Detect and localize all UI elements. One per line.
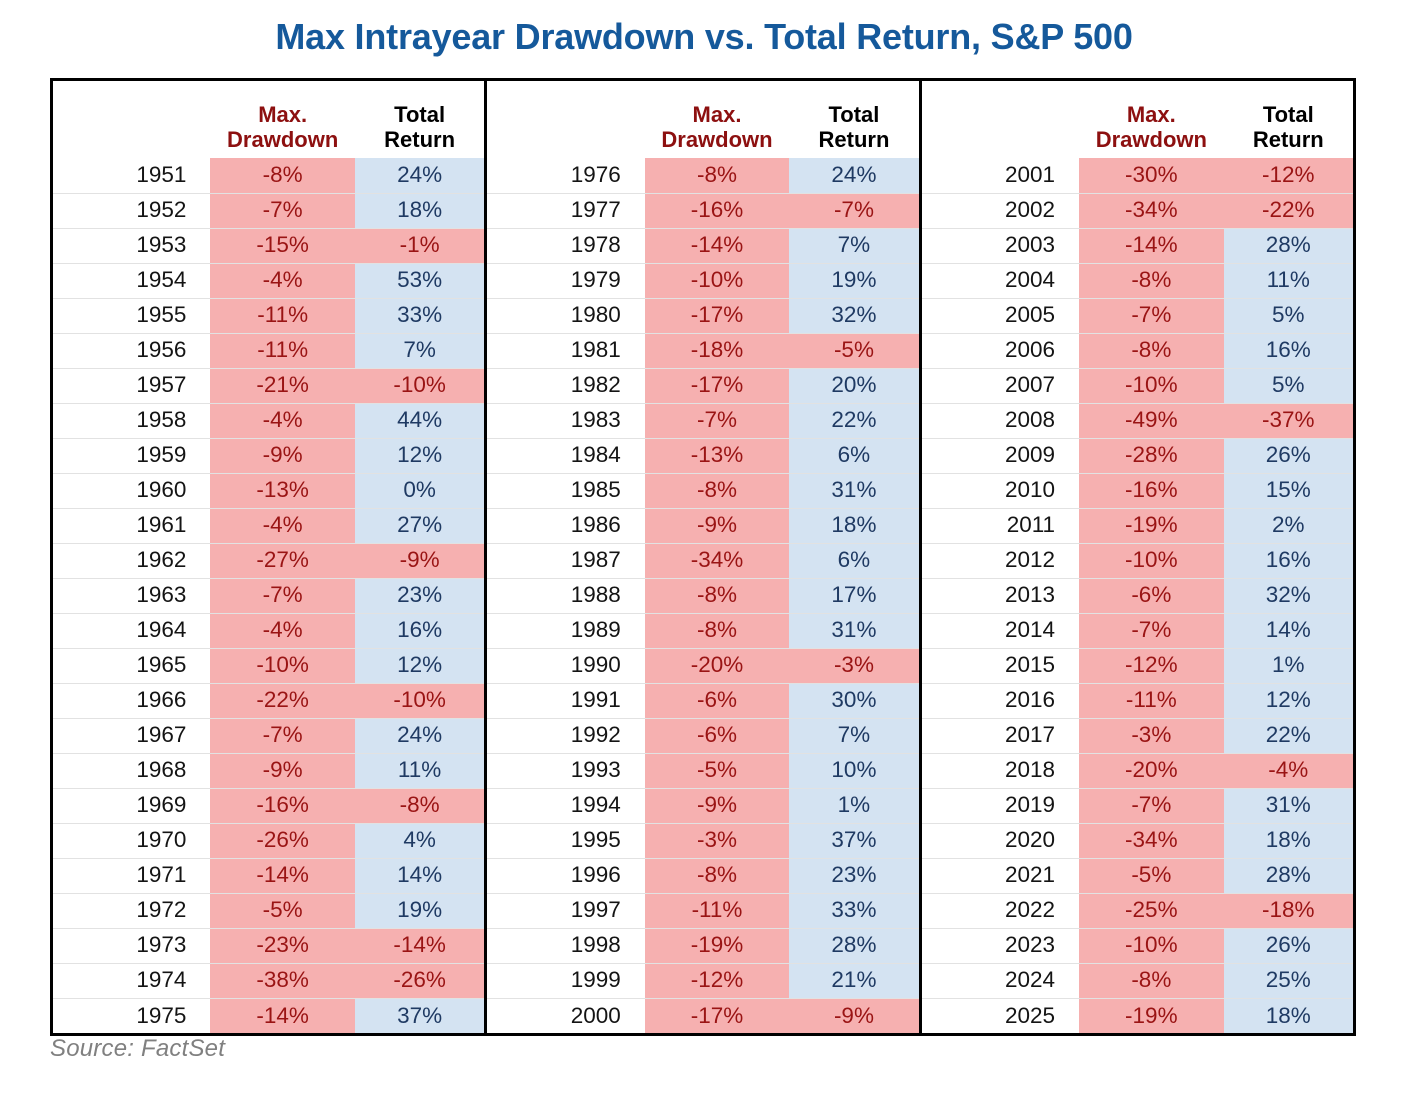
header-line-2: Return	[1230, 128, 1347, 153]
cell-year: 2015	[922, 648, 1079, 683]
cell-total-return: 1%	[1224, 648, 1353, 683]
table-row: 1977-16%-7%	[487, 193, 918, 228]
cell-year: 2012	[922, 543, 1079, 578]
cell-total-return: 7%	[789, 228, 918, 263]
cell-max-drawdown: -11%	[1079, 683, 1223, 718]
cell-max-drawdown: -16%	[645, 193, 789, 228]
cell-year: 2018	[922, 753, 1079, 788]
table-row: 2007-10%5%	[922, 368, 1353, 403]
cell-year: 1965	[53, 648, 210, 683]
table-row: 2009-28%26%	[922, 438, 1353, 473]
cell-total-return: 37%	[789, 823, 918, 858]
table-row: 1972-5%19%	[53, 893, 484, 928]
cell-year: 2021	[922, 858, 1079, 893]
cell-total-return: 31%	[789, 613, 918, 648]
cell-year: 1984	[487, 438, 644, 473]
cell-total-return: 18%	[789, 508, 918, 543]
cell-total-return: 23%	[355, 578, 484, 613]
cell-year: 1961	[53, 508, 210, 543]
cell-max-drawdown: -3%	[1079, 718, 1223, 753]
header-line-1: Total	[795, 103, 912, 128]
table-blocks: Max.DrawdownTotalReturn1951-8%24%1952-7%…	[53, 81, 1353, 1033]
table-row: 1980-17%32%	[487, 298, 918, 333]
cell-max-drawdown: -10%	[210, 648, 354, 683]
page-title: Max Intrayear Drawdown vs. Total Return,…	[0, 0, 1408, 55]
table-row: 1969-16%-8%	[53, 788, 484, 823]
cell-year: 1972	[53, 893, 210, 928]
cell-max-drawdown: -7%	[1079, 788, 1223, 823]
cell-year: 2016	[922, 683, 1079, 718]
header-line-2: Return	[795, 128, 912, 153]
cell-year: 2011	[922, 508, 1079, 543]
table-row: 2003-14%28%	[922, 228, 1353, 263]
table-row: 1951-8%24%	[53, 158, 484, 193]
cell-year: 1979	[487, 263, 644, 298]
cell-total-return: 24%	[789, 158, 918, 193]
cell-year: 1967	[53, 718, 210, 753]
table-header-row: Max.DrawdownTotalReturn	[53, 81, 484, 158]
cell-total-return: 33%	[355, 298, 484, 333]
table-row: 2017-3%22%	[922, 718, 1353, 753]
cell-max-drawdown: -17%	[645, 368, 789, 403]
cell-total-return: 30%	[789, 683, 918, 718]
cell-total-return: 53%	[355, 263, 484, 298]
cell-max-drawdown: -13%	[210, 473, 354, 508]
cell-max-drawdown: -14%	[210, 858, 354, 893]
table-row: 1995-3%37%	[487, 823, 918, 858]
cell-total-return: 11%	[1224, 263, 1353, 298]
cell-year: 2005	[922, 298, 1079, 333]
cell-total-return: 31%	[1224, 788, 1353, 823]
cell-year: 2025	[922, 998, 1079, 1033]
cell-year: 1993	[487, 753, 644, 788]
cell-year: 1991	[487, 683, 644, 718]
cell-max-drawdown: -6%	[1079, 578, 1223, 613]
cell-max-drawdown: -6%	[645, 718, 789, 753]
table-block-2: Max.DrawdownTotalReturn1976-8%24%1977-16…	[484, 81, 918, 1033]
table-block-3: Max.DrawdownTotalReturn2001-30%-12%2002-…	[919, 81, 1353, 1033]
table-row: 1968-9%11%	[53, 753, 484, 788]
cell-max-drawdown: -7%	[210, 193, 354, 228]
cell-max-drawdown: -8%	[645, 858, 789, 893]
cell-total-return: -22%	[1224, 193, 1353, 228]
drawdown-return-table: Max.DrawdownTotalReturn1951-8%24%1952-7%…	[50, 78, 1356, 1036]
cell-year: 2004	[922, 263, 1079, 298]
table-row: 1954-4%53%	[53, 263, 484, 298]
table-row: 2020-34%18%	[922, 823, 1353, 858]
cell-max-drawdown: -8%	[645, 613, 789, 648]
cell-year: 2024	[922, 963, 1079, 998]
table-block-1: Max.DrawdownTotalReturn1951-8%24%1952-7%…	[53, 81, 484, 1033]
cell-max-drawdown: -17%	[645, 298, 789, 333]
cell-total-return: 6%	[789, 438, 918, 473]
cell-year: 2014	[922, 613, 1079, 648]
table-row: 2005-7%5%	[922, 298, 1353, 333]
cell-year: 1997	[487, 893, 644, 928]
cell-max-drawdown: -11%	[645, 893, 789, 928]
cell-max-drawdown: -27%	[210, 543, 354, 578]
header-line-1: Max.	[216, 103, 348, 128]
cell-max-drawdown: -17%	[645, 998, 789, 1033]
cell-max-drawdown: -3%	[645, 823, 789, 858]
header-line-2: Drawdown	[216, 128, 348, 153]
cell-year: 2008	[922, 403, 1079, 438]
data-table: Max.DrawdownTotalReturn2001-30%-12%2002-…	[922, 81, 1353, 1033]
cell-year: 1982	[487, 368, 644, 403]
cell-max-drawdown: -38%	[210, 963, 354, 998]
data-table: Max.DrawdownTotalReturn1951-8%24%1952-7%…	[53, 81, 484, 1033]
table-row: 1997-11%33%	[487, 893, 918, 928]
cell-year: 1977	[487, 193, 644, 228]
table-row: 1964-4%16%	[53, 613, 484, 648]
table-row: 2025-19%18%	[922, 998, 1353, 1033]
cell-total-return: 28%	[789, 928, 918, 963]
table-row: 1955-11%33%	[53, 298, 484, 333]
cell-total-return: 21%	[789, 963, 918, 998]
cell-max-drawdown: -11%	[210, 298, 354, 333]
cell-max-drawdown: -8%	[645, 578, 789, 613]
cell-total-return: 17%	[789, 578, 918, 613]
cell-total-return: 37%	[355, 998, 484, 1033]
cell-total-return: -5%	[789, 333, 918, 368]
cell-total-return: -26%	[355, 963, 484, 998]
cell-max-drawdown: -4%	[210, 263, 354, 298]
cell-total-return: 0%	[355, 473, 484, 508]
cell-year: 1976	[487, 158, 644, 193]
table-row: 1957-21%-10%	[53, 368, 484, 403]
cell-total-return: 32%	[789, 298, 918, 333]
cell-max-drawdown: -8%	[210, 158, 354, 193]
header-line-1: Max.	[1085, 103, 1217, 128]
table-row: 1956-11%7%	[53, 333, 484, 368]
cell-max-drawdown: -30%	[1079, 158, 1223, 193]
table-row: 1961-4%27%	[53, 508, 484, 543]
cell-total-return: 16%	[355, 613, 484, 648]
cell-year: 1970	[53, 823, 210, 858]
table-row: 1978-14%7%	[487, 228, 918, 263]
cell-max-drawdown: -49%	[1079, 403, 1223, 438]
cell-max-drawdown: -20%	[645, 648, 789, 683]
table-row: 1992-6%7%	[487, 718, 918, 753]
header-line-1: Max.	[651, 103, 783, 128]
table-row: 1983-7%22%	[487, 403, 918, 438]
table-row: 1999-12%21%	[487, 963, 918, 998]
column-header-year	[487, 81, 644, 158]
cell-total-return: -9%	[789, 998, 918, 1033]
cell-year: 1978	[487, 228, 644, 263]
cell-year: 1987	[487, 543, 644, 578]
cell-year: 1958	[53, 403, 210, 438]
cell-year: 1992	[487, 718, 644, 753]
cell-total-return: -4%	[1224, 753, 1353, 788]
cell-max-drawdown: -8%	[645, 473, 789, 508]
cell-total-return: 14%	[1224, 613, 1353, 648]
cell-year: 2020	[922, 823, 1079, 858]
cell-total-return: 26%	[1224, 438, 1353, 473]
cell-max-drawdown: -34%	[1079, 193, 1223, 228]
cell-total-return: -18%	[1224, 893, 1353, 928]
cell-total-return: 12%	[355, 438, 484, 473]
cell-max-drawdown: -25%	[1079, 893, 1223, 928]
cell-total-return: 18%	[1224, 823, 1353, 858]
column-header-total-return: TotalReturn	[789, 81, 918, 158]
cell-total-return: -3%	[789, 648, 918, 683]
cell-year: 2000	[487, 998, 644, 1033]
cell-year: 1994	[487, 788, 644, 823]
cell-max-drawdown: -15%	[210, 228, 354, 263]
table-row: 1960-13%0%	[53, 473, 484, 508]
cell-year: 1981	[487, 333, 644, 368]
cell-max-drawdown: -6%	[645, 683, 789, 718]
cell-total-return: 22%	[789, 403, 918, 438]
cell-max-drawdown: -5%	[210, 893, 354, 928]
chart-page: Max Intrayear Drawdown vs. Total Return,…	[0, 0, 1408, 1107]
cell-year: 1962	[53, 543, 210, 578]
cell-year: 2013	[922, 578, 1079, 613]
table-row: 2001-30%-12%	[922, 158, 1353, 193]
table-row: 2010-16%15%	[922, 473, 1353, 508]
cell-year: 1968	[53, 753, 210, 788]
column-header-total-return: TotalReturn	[1224, 81, 1353, 158]
cell-total-return: 25%	[1224, 963, 1353, 998]
column-header-max-drawdown: Max.Drawdown	[645, 81, 789, 158]
table-header-row: Max.DrawdownTotalReturn	[922, 81, 1353, 158]
cell-total-return: 33%	[789, 893, 918, 928]
cell-year: 1973	[53, 928, 210, 963]
header-line-2: Return	[361, 128, 478, 153]
cell-total-return: 27%	[355, 508, 484, 543]
cell-year: 2023	[922, 928, 1079, 963]
cell-total-return: 15%	[1224, 473, 1353, 508]
cell-max-drawdown: -8%	[1079, 963, 1223, 998]
cell-total-return: 14%	[355, 858, 484, 893]
table-header-row: Max.DrawdownTotalReturn	[487, 81, 918, 158]
table-row: 1953-15%-1%	[53, 228, 484, 263]
cell-total-return: 11%	[355, 753, 484, 788]
cell-year: 1974	[53, 963, 210, 998]
header-line-2: Drawdown	[1085, 128, 1217, 153]
table-row: 2013-6%32%	[922, 578, 1353, 613]
table-row: 2024-8%25%	[922, 963, 1353, 998]
cell-max-drawdown: -19%	[1079, 998, 1223, 1033]
cell-year: 1953	[53, 228, 210, 263]
cell-total-return: -37%	[1224, 403, 1353, 438]
cell-max-drawdown: -22%	[210, 683, 354, 718]
cell-year: 2002	[922, 193, 1079, 228]
cell-max-drawdown: -5%	[1079, 858, 1223, 893]
cell-year: 1975	[53, 998, 210, 1033]
cell-max-drawdown: -18%	[645, 333, 789, 368]
cell-year: 1999	[487, 963, 644, 998]
table-row: 2011-19%2%	[922, 508, 1353, 543]
table-row: 2012-10%16%	[922, 543, 1353, 578]
table-row: 2000-17%-9%	[487, 998, 918, 1033]
cell-max-drawdown: -13%	[645, 438, 789, 473]
table-row: 1981-18%-5%	[487, 333, 918, 368]
source-note: Source: FactSet	[50, 1035, 225, 1063]
cell-max-drawdown: -9%	[210, 438, 354, 473]
table-row: 1970-26%4%	[53, 823, 484, 858]
cell-total-return: 4%	[355, 823, 484, 858]
table-row: 1996-8%23%	[487, 858, 918, 893]
cell-year: 1964	[53, 613, 210, 648]
cell-year: 1957	[53, 368, 210, 403]
cell-max-drawdown: -4%	[210, 508, 354, 543]
cell-year: 1971	[53, 858, 210, 893]
cell-max-drawdown: -10%	[1079, 928, 1223, 963]
cell-max-drawdown: -10%	[645, 263, 789, 298]
cell-year: 1956	[53, 333, 210, 368]
table-row: 2015-12%1%	[922, 648, 1353, 683]
cell-max-drawdown: -8%	[645, 158, 789, 193]
cell-max-drawdown: -14%	[645, 228, 789, 263]
cell-max-drawdown: -4%	[210, 403, 354, 438]
cell-max-drawdown: -14%	[210, 998, 354, 1033]
cell-year: 1989	[487, 613, 644, 648]
cell-year: 1983	[487, 403, 644, 438]
cell-total-return: 31%	[789, 473, 918, 508]
cell-total-return: 20%	[789, 368, 918, 403]
cell-max-drawdown: -4%	[210, 613, 354, 648]
table-row: 1952-7%18%	[53, 193, 484, 228]
table-row: 1998-19%28%	[487, 928, 918, 963]
table-row: 1982-17%20%	[487, 368, 918, 403]
cell-year: 1998	[487, 928, 644, 963]
cell-max-drawdown: -8%	[1079, 263, 1223, 298]
cell-total-return: 1%	[789, 788, 918, 823]
cell-year: 1959	[53, 438, 210, 473]
table-row: 2021-5%28%	[922, 858, 1353, 893]
cell-year: 2009	[922, 438, 1079, 473]
cell-year: 1954	[53, 263, 210, 298]
table-row: 1966-22%-10%	[53, 683, 484, 718]
cell-total-return: 16%	[1224, 333, 1353, 368]
data-table: Max.DrawdownTotalReturn1976-8%24%1977-16…	[487, 81, 918, 1033]
cell-total-return: 22%	[1224, 718, 1353, 753]
cell-max-drawdown: -34%	[1079, 823, 1223, 858]
header-line-1: Total	[1230, 103, 1347, 128]
table-row: 1975-14%37%	[53, 998, 484, 1033]
column-header-max-drawdown: Max.Drawdown	[1079, 81, 1223, 158]
cell-total-return: 24%	[355, 718, 484, 753]
cell-max-drawdown: -16%	[1079, 473, 1223, 508]
cell-total-return: -9%	[355, 543, 484, 578]
cell-year: 1996	[487, 858, 644, 893]
cell-total-return: -10%	[355, 683, 484, 718]
cell-max-drawdown: -9%	[645, 508, 789, 543]
cell-max-drawdown: -28%	[1079, 438, 1223, 473]
cell-max-drawdown: -10%	[1079, 368, 1223, 403]
cell-total-return: -12%	[1224, 158, 1353, 193]
table-row: 2022-25%-18%	[922, 893, 1353, 928]
cell-max-drawdown: -9%	[210, 753, 354, 788]
cell-year: 1988	[487, 578, 644, 613]
cell-total-return: -14%	[355, 928, 484, 963]
table-row: 2004-8%11%	[922, 263, 1353, 298]
cell-year: 2003	[922, 228, 1079, 263]
cell-year: 2001	[922, 158, 1079, 193]
table-row: 2019-7%31%	[922, 788, 1353, 823]
cell-total-return: 23%	[789, 858, 918, 893]
cell-year: 1966	[53, 683, 210, 718]
table-row: 1988-8%17%	[487, 578, 918, 613]
cell-max-drawdown: -12%	[1079, 648, 1223, 683]
table-row: 1965-10%12%	[53, 648, 484, 683]
cell-total-return: 24%	[355, 158, 484, 193]
table-row: 1973-23%-14%	[53, 928, 484, 963]
cell-total-return: 7%	[355, 333, 484, 368]
cell-year: 2022	[922, 893, 1079, 928]
column-header-total-return: TotalReturn	[355, 81, 484, 158]
cell-max-drawdown: -34%	[645, 543, 789, 578]
cell-total-return: 28%	[1224, 858, 1353, 893]
cell-max-drawdown: -11%	[210, 333, 354, 368]
cell-max-drawdown: -9%	[645, 788, 789, 823]
cell-total-return: 19%	[355, 893, 484, 928]
cell-max-drawdown: -23%	[210, 928, 354, 963]
cell-total-return: 18%	[1224, 998, 1353, 1033]
cell-max-drawdown: -7%	[1079, 613, 1223, 648]
cell-year: 1951	[53, 158, 210, 193]
table-row: 1974-38%-26%	[53, 963, 484, 998]
table-row: 2002-34%-22%	[922, 193, 1353, 228]
cell-total-return: 6%	[789, 543, 918, 578]
cell-max-drawdown: -20%	[1079, 753, 1223, 788]
cell-year: 2010	[922, 473, 1079, 508]
cell-total-return: 2%	[1224, 508, 1353, 543]
cell-year: 1969	[53, 788, 210, 823]
cell-total-return: 44%	[355, 403, 484, 438]
cell-max-drawdown: -5%	[645, 753, 789, 788]
cell-max-drawdown: -19%	[645, 928, 789, 963]
cell-total-return: 16%	[1224, 543, 1353, 578]
table-row: 1979-10%19%	[487, 263, 918, 298]
table-row: 1971-14%14%	[53, 858, 484, 893]
header-line-2: Drawdown	[651, 128, 783, 153]
cell-total-return: 5%	[1224, 368, 1353, 403]
cell-total-return: 5%	[1224, 298, 1353, 333]
cell-year: 2007	[922, 368, 1079, 403]
table-row: 1990-20%-3%	[487, 648, 918, 683]
column-header-year	[922, 81, 1079, 158]
table-row: 1959-9%12%	[53, 438, 484, 473]
cell-max-drawdown: -7%	[645, 403, 789, 438]
cell-max-drawdown: -7%	[210, 718, 354, 753]
cell-year: 2017	[922, 718, 1079, 753]
table-row: 1989-8%31%	[487, 613, 918, 648]
cell-year: 1985	[487, 473, 644, 508]
cell-year: 1960	[53, 473, 210, 508]
table-row: 1994-9%1%	[487, 788, 918, 823]
cell-total-return: -10%	[355, 368, 484, 403]
column-header-year	[53, 81, 210, 158]
cell-max-drawdown: -10%	[1079, 543, 1223, 578]
cell-year: 1990	[487, 648, 644, 683]
cell-total-return: 10%	[789, 753, 918, 788]
table-row: 2008-49%-37%	[922, 403, 1353, 438]
cell-total-return: 19%	[789, 263, 918, 298]
cell-year: 1963	[53, 578, 210, 613]
cell-total-return: 7%	[789, 718, 918, 753]
table-row: 2018-20%-4%	[922, 753, 1353, 788]
cell-max-drawdown: -7%	[210, 578, 354, 613]
cell-max-drawdown: -21%	[210, 368, 354, 403]
cell-max-drawdown: -12%	[645, 963, 789, 998]
cell-max-drawdown: -7%	[1079, 298, 1223, 333]
cell-total-return: -1%	[355, 228, 484, 263]
cell-max-drawdown: -19%	[1079, 508, 1223, 543]
table-row: 1993-5%10%	[487, 753, 918, 788]
